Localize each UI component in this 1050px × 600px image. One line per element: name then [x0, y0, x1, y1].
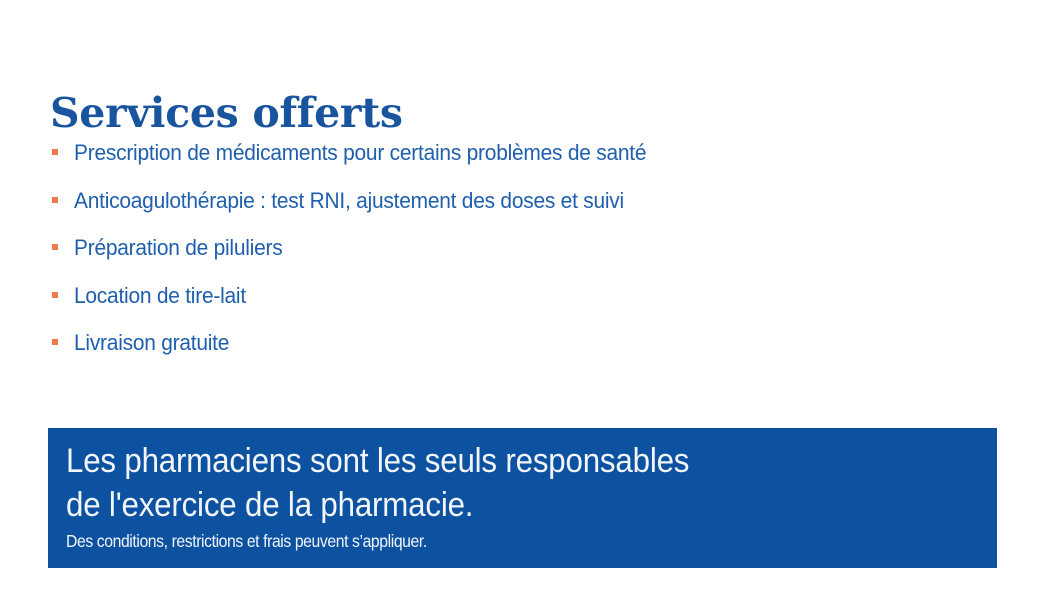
- callout-headline: Les pharmaciens sont les seuls responsab…: [66, 439, 923, 527]
- list-item: Location de tire-lait: [52, 283, 982, 331]
- list-item: Prescription de médicaments pour certain…: [52, 140, 982, 188]
- square-bullet-icon: [52, 244, 58, 250]
- list-item: Anticoagulothérapie : test RNI, ajusteme…: [52, 188, 982, 236]
- square-bullet-icon: [52, 149, 58, 155]
- list-item-label: Anticoagulothérapie : test RNI, ajusteme…: [74, 188, 624, 214]
- slide-canvas: Services offerts Prescription de médicam…: [0, 0, 1050, 600]
- list-item: Préparation de piluliers: [52, 235, 982, 283]
- square-bullet-icon: [52, 197, 58, 203]
- disclaimer-callout-box: Les pharmaciens sont les seuls responsab…: [48, 428, 997, 568]
- square-bullet-icon: [52, 292, 58, 298]
- list-item-label: Prescription de médicaments pour certain…: [74, 140, 646, 166]
- list-item-label: Préparation de piluliers: [74, 235, 282, 261]
- callout-subtext: Des conditions, restrictions et frais pe…: [66, 529, 904, 553]
- list-item-label: Livraison gratuite: [74, 330, 229, 356]
- list-item-label: Location de tire-lait: [74, 283, 246, 309]
- services-bullet-list: Prescription de médicaments pour certain…: [52, 140, 982, 378]
- list-item: Livraison gratuite: [52, 330, 982, 378]
- square-bullet-icon: [52, 339, 58, 345]
- page-title: Services offerts: [50, 89, 403, 137]
